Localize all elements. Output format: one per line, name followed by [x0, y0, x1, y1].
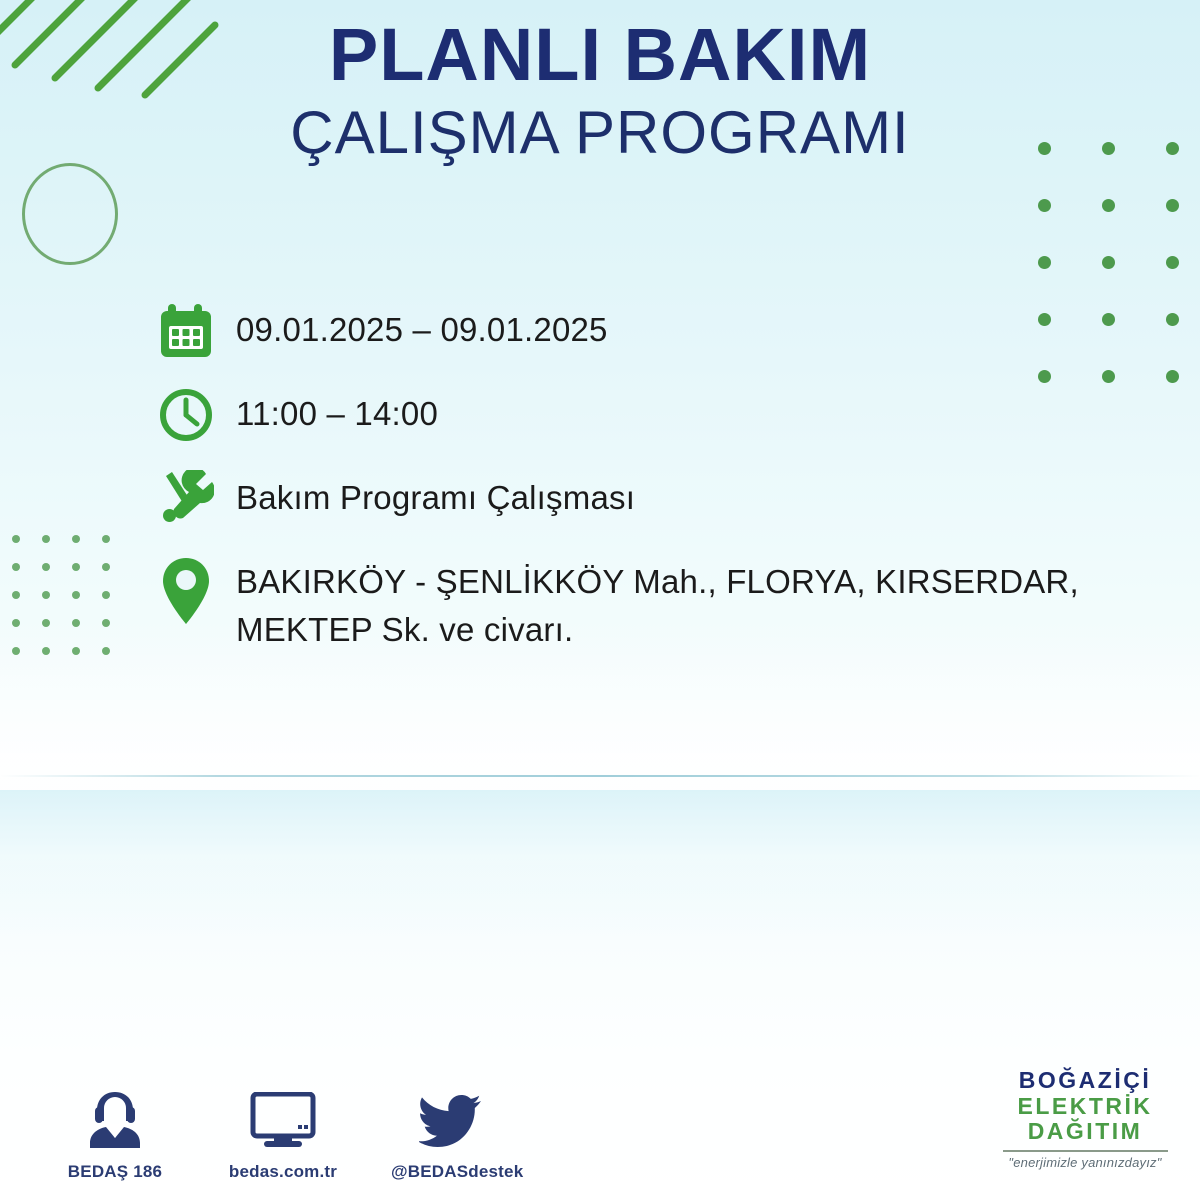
dot — [1038, 256, 1051, 269]
contact-label: BEDAŞ 186 — [55, 1162, 175, 1182]
contact-call-center[interactable]: BEDAŞ 186 — [55, 1088, 175, 1182]
horizontal-divider — [0, 775, 1200, 777]
brand-divider — [1003, 1150, 1168, 1152]
dot — [42, 535, 50, 543]
dot — [72, 591, 80, 599]
dot — [72, 619, 80, 627]
page-title: PLANLI BAKIM — [0, 16, 1200, 94]
dot — [1102, 199, 1115, 212]
info-row-date: 09.01.2025 – 09.01.2025 — [158, 300, 1158, 362]
calendar-icon — [158, 300, 236, 362]
info-list: 09.01.2025 – 09.01.2025 11:00 – 14:00 — [158, 300, 1158, 676]
brand-line-3: DAĞITIM — [990, 1119, 1180, 1145]
page-subtitle: ÇALIŞMA PROGRAMI — [0, 100, 1200, 166]
dot — [1038, 199, 1051, 212]
contact-list: BEDAŞ 186 bedas.com.tr — [55, 1088, 511, 1182]
dot — [12, 535, 20, 543]
dot — [42, 647, 50, 655]
dot-grid-left-decoration — [12, 535, 132, 675]
address-text: BAKIRKÖY - ŞENLİKKÖY Mah., FLORYA, KIRSE… — [236, 552, 1136, 654]
poster-canvas: PLANLI BAKIM ÇALIŞMA PROGRAMI — [0, 0, 1200, 1200]
dot — [102, 563, 110, 571]
contact-twitter[interactable]: @BEDASdestek — [391, 1088, 511, 1182]
dot — [1166, 313, 1179, 326]
dot — [12, 619, 20, 627]
twitter-bird-icon — [391, 1088, 511, 1150]
dot — [72, 647, 80, 655]
bedas-logo: BOĞAZİÇİ ELEKTRİK DAĞITIM "enerjimizle y… — [990, 1068, 1180, 1170]
dot — [12, 563, 20, 571]
dot — [102, 647, 110, 655]
clock-icon — [158, 384, 236, 446]
contact-label: bedas.com.tr — [223, 1162, 343, 1182]
background-lower-wash — [0, 790, 1200, 940]
dot — [12, 591, 20, 599]
work-type-text: Bakım Programı Çalışması — [236, 468, 635, 522]
info-row-address: BAKIRKÖY - ŞENLİKKÖY Mah., FLORYA, KIRSE… — [158, 552, 1158, 654]
dot — [1166, 199, 1179, 212]
date-range-text: 09.01.2025 – 09.01.2025 — [236, 300, 608, 354]
brand-line-2: ELEKTRİK — [990, 1094, 1180, 1120]
tools-icon — [158, 468, 236, 530]
dot — [1166, 370, 1179, 383]
info-row-work-type: Bakım Programı Çalışması — [158, 468, 1158, 530]
dot — [102, 619, 110, 627]
dot — [102, 535, 110, 543]
brand-tagline: "enerjimizle yanınızdayız" — [990, 1155, 1180, 1170]
dot — [102, 591, 110, 599]
dot — [42, 563, 50, 571]
info-row-time: 11:00 – 14:00 — [158, 384, 1158, 446]
dot — [42, 619, 50, 627]
time-range-text: 11:00 – 14:00 — [236, 384, 438, 438]
dot — [72, 563, 80, 571]
poster-footer: BEDAŞ 186 bedas.com.tr — [0, 1020, 1200, 1200]
dot — [42, 591, 50, 599]
dot — [12, 647, 20, 655]
dot — [1102, 256, 1115, 269]
circle-outline-decoration — [22, 163, 118, 265]
dot — [72, 535, 80, 543]
contact-label: @BEDASdestek — [391, 1162, 511, 1182]
monitor-icon — [223, 1088, 343, 1150]
contact-website[interactable]: bedas.com.tr — [223, 1088, 343, 1182]
dot — [1166, 256, 1179, 269]
brand-line-1: BOĞAZİÇİ — [990, 1068, 1180, 1094]
location-pin-icon — [158, 552, 236, 626]
poster-header: PLANLI BAKIM ÇALIŞMA PROGRAMI — [0, 16, 1200, 166]
call-center-agent-icon — [55, 1088, 175, 1150]
